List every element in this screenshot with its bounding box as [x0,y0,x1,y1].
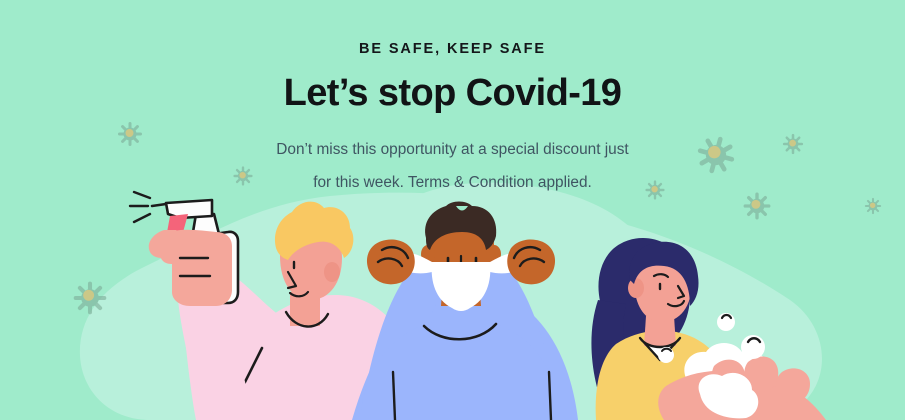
virus-particle [645,180,664,199]
virus-particle [74,282,107,315]
bubble [658,347,674,363]
illustration-canvas [0,0,905,420]
ear [628,278,644,298]
virus-particle [865,198,881,214]
ear [324,262,340,282]
virus-particle [233,166,252,185]
bubble [717,313,735,331]
bubble [741,335,765,359]
virus-particle [118,122,142,146]
sprayer-head [166,200,212,218]
covid-promo-banner: BE SAFE, KEEP SAFE Let’s stop Covid-19 D… [0,0,905,420]
virus-particle [744,193,771,220]
virus-particle [783,134,803,154]
